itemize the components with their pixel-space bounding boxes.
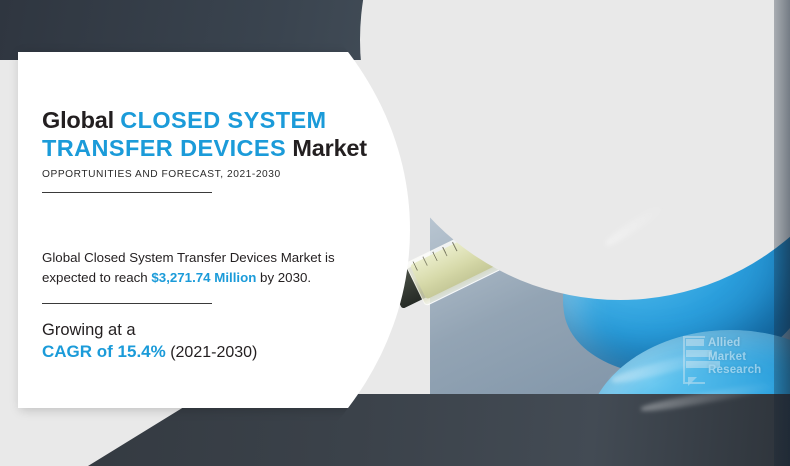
logo-line-3: Research (708, 364, 761, 378)
card-content: Global CLOSED SYSTEMTRANSFER DEVICES Mar… (42, 52, 372, 408)
logo-line-1: Allied (708, 337, 761, 351)
page-subtitle: OPPORTUNITIES AND FORECAST, 2021-2030 (42, 169, 372, 180)
page-title: Global CLOSED SYSTEMTRANSFER DEVICES Mar… (42, 52, 372, 162)
cagr-period: (2021-2030) (166, 344, 258, 361)
report-banner: Allied Market Research Global CLOSED SYS… (0, 0, 790, 466)
cagr-value: CAGR of 15.4% (42, 342, 166, 361)
logo-line-2: Market (708, 351, 761, 365)
logo-wordmark: Allied Market Research (708, 337, 761, 378)
summary-tail: by 2030. (256, 270, 311, 285)
right-edge-overlay (774, 0, 790, 466)
cagr-block: Growing at a CAGR of 15.4% (2021-2030) (42, 320, 372, 363)
divider-middle (42, 303, 212, 304)
divider-top (42, 192, 212, 193)
title-highlight-1: CLOSED SYSTEM (120, 107, 326, 133)
market-summary: Global Closed System Transfer Devices Ma… (42, 248, 342, 288)
title-suffix: Market (286, 135, 367, 161)
allied-market-research-logo: Allied Market Research (686, 337, 778, 385)
growth-label: Growing at a (42, 320, 372, 341)
market-value: $3,271.74 Million (151, 270, 256, 285)
logo-speech-tail (688, 377, 697, 386)
title-prefix: Global (42, 107, 120, 133)
title-highlight-2: TRANSFER DEVICES (42, 135, 286, 161)
